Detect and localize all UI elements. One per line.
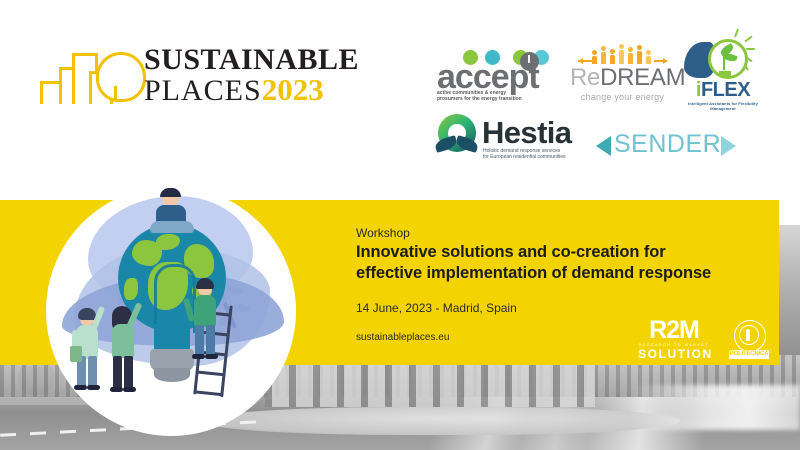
sender-wordmark: SENDER xyxy=(614,131,721,158)
hestia-tagline: Holistic demand response services for Eu… xyxy=(483,148,598,160)
ring-leaves-icon xyxy=(436,114,480,158)
workshop-title: Innovative solutions and co-creation for… xyxy=(356,242,756,284)
redream-logo: ReDREAM change your energy xyxy=(570,46,675,104)
accept-tagline: active communities & energy prosumers fo… xyxy=(437,90,567,102)
iflex-tagline: Intelligent Assistants for Flexibility M… xyxy=(680,101,766,111)
accept-logo: accept active communities & energy prosu… xyxy=(437,44,562,104)
poster-canvas: SUSTAINABLE PLACES2023 accept active com… xyxy=(0,0,800,450)
head-lightbulb-leaf-icon xyxy=(680,36,766,80)
brand-year: 2023 xyxy=(262,72,324,107)
sustainable-places-logo: SUSTAINABLE PLACES2023 xyxy=(40,44,340,110)
redream-tagline: change your energy xyxy=(570,92,675,102)
iflex-wordmark: iFLEX xyxy=(680,80,766,101)
workshop-kicker: Workshop xyxy=(356,225,756,241)
brand-name-line2: PLACES2023 xyxy=(144,74,324,107)
r2m-wordmark: R2M xyxy=(638,318,710,342)
workshop-title-line2: effective implementation of demand respo… xyxy=(356,263,756,284)
skyline-tree-icon xyxy=(40,50,140,104)
brand-name-line1: SUSTAINABLE xyxy=(144,44,359,76)
hestia-logo: Hestia Holistic demand response services… xyxy=(436,114,591,166)
redream-main: DREAM xyxy=(600,64,685,91)
r2m-solution-text: SOLUTION xyxy=(638,348,710,361)
brand-places-text: PLACES xyxy=(144,74,262,107)
hestia-tagline-line2: for European residential communities xyxy=(483,154,566,160)
iflex-logo: iFLEX Intelligent Assistants for Flexibi… xyxy=(680,36,766,108)
redream-prefix: Re xyxy=(570,64,600,91)
university-seal-icon xyxy=(734,320,766,352)
people-globe-lightbulb-illustration xyxy=(46,186,296,436)
play-triangle-left-icon xyxy=(596,136,611,156)
upm-politecnica-logo: POLITÉCNICA xyxy=(729,320,769,360)
politecnica-label: POLITÉCNICA xyxy=(729,350,769,359)
accept-wordmark: accept xyxy=(437,60,539,94)
redream-wordmark: ReDREAM xyxy=(570,65,675,91)
accept-tagline-line2: prosumers for the energy transition xyxy=(437,96,522,102)
people-bars-arrows-icon xyxy=(578,46,668,64)
iflex-main: FLEX xyxy=(701,79,750,101)
workshop-title-line1: Innovative solutions and co-creation for xyxy=(356,242,756,263)
r2m-solution-logo: R2M RESEARCH TO MARKET SOLUTION xyxy=(638,318,710,358)
play-triangle-right-icon xyxy=(721,136,736,156)
sender-logo: SENDER xyxy=(596,131,741,161)
workshop-date-location: 14 June, 2023 - Madrid, Spain xyxy=(356,300,756,316)
photo-motion-blur xyxy=(630,385,800,430)
hestia-wordmark: Hestia xyxy=(482,117,571,149)
